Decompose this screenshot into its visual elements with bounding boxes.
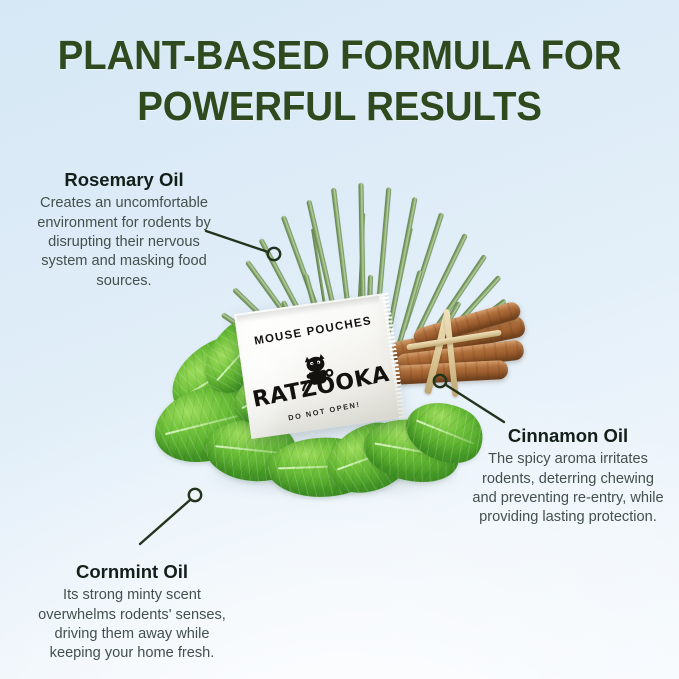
callout-body-line: environment for rodents by [8, 214, 240, 233]
callout-body-line: keeping your home fresh. [22, 644, 242, 663]
callout-body-line: disrupting their nervous [8, 233, 240, 252]
callout-body-cinnamon: The spicy aroma irritates rodents, deter… [462, 450, 674, 528]
callout-heading-cornmint: Cornmint Oil [22, 560, 242, 583]
callout-body-line: driving them away while [22, 625, 242, 644]
mouse-pouch-product: MOUSE POUCHES [234, 293, 402, 439]
callout-rosemary-oil: Rosemary Oil Creates an uncomfortable en… [8, 168, 240, 291]
callout-body-cornmint: Its strong minty scent overwhelms rodent… [22, 586, 242, 664]
callout-body-line: providing lasting protection. [462, 508, 674, 527]
callout-body-line: The spicy aroma irritates [462, 450, 674, 469]
callout-cornmint-oil: Cornmint Oil Its strong minty scent over… [22, 560, 242, 664]
callout-body-line: sources. [8, 272, 240, 291]
callout-heading-rosemary: Rosemary Oil [8, 168, 240, 191]
callout-body-line: overwhelms rodents' senses, [22, 606, 242, 625]
callout-body-rosemary: Creates an uncomfortable environment for… [8, 194, 240, 291]
callout-body-line: Creates an uncomfortable [8, 194, 240, 213]
callout-body-line: and preventing re-entry, while [462, 489, 674, 508]
infographic-canvas: PLANT-BASED FORMULA FOR POWERFUL RESULTS [0, 0, 679, 679]
callout-heading-cinnamon: Cinnamon Oil [462, 424, 674, 447]
title-line-2: POWERFUL RESULTS [20, 81, 658, 132]
title-line-1: PLANT-BASED FORMULA FOR [20, 30, 658, 81]
callout-body-line: system and masking food [8, 252, 240, 271]
callout-body-line: rodents, deterring chewing [462, 470, 674, 489]
page-title: PLANT-BASED FORMULA FOR POWERFUL RESULTS [20, 30, 658, 133]
callout-cinnamon-oil: Cinnamon Oil The spicy aroma irritates r… [462, 424, 674, 528]
callout-body-line: Its strong minty scent [22, 586, 242, 605]
